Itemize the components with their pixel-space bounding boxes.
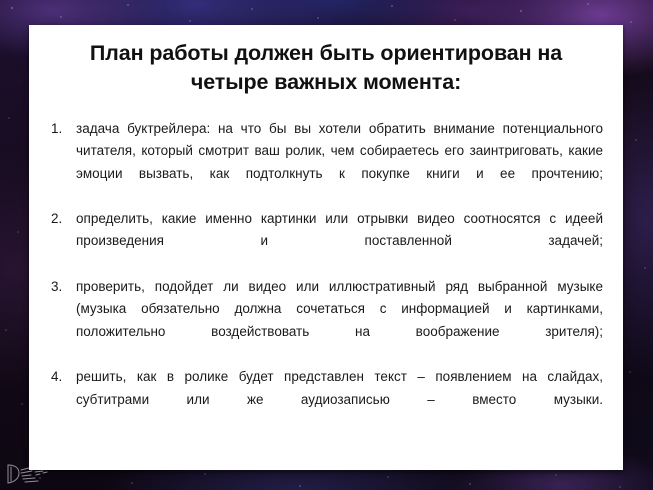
list-item-number: 4. [41, 366, 76, 388]
numbered-points-list: 1. задача буктрейлера: на что бы вы хоте… [29, 97, 623, 433]
list-item: 4. решить, как в ролике будет представле… [41, 366, 611, 433]
slide-title: План работы должен быть ориентирован на … [29, 25, 623, 97]
list-item-number: 3. [41, 276, 76, 298]
presentation-slide: План работы должен быть ориентирован на … [0, 0, 653, 490]
list-item-text: решить, как в ролике будет представлен т… [76, 366, 611, 433]
list-item: 2. определить, какие именно картинки или… [41, 208, 611, 275]
list-item: 1. задача буктрейлера: на что бы вы хоте… [41, 118, 611, 207]
slide-content-card: План работы должен быть ориентирован на … [29, 25, 623, 470]
list-item-text: определить, какие именно картинки или от… [76, 208, 611, 275]
list-item-text: проверить, подойдет ли видео или иллюстр… [76, 276, 611, 365]
list-item: 3. проверить, подойдет ли видео или иллю… [41, 276, 611, 365]
list-item-number: 2. [41, 208, 76, 230]
list-item-number: 1. [41, 118, 76, 140]
list-item-text: задача буктрейлера: на что бы вы хотели … [76, 118, 611, 207]
